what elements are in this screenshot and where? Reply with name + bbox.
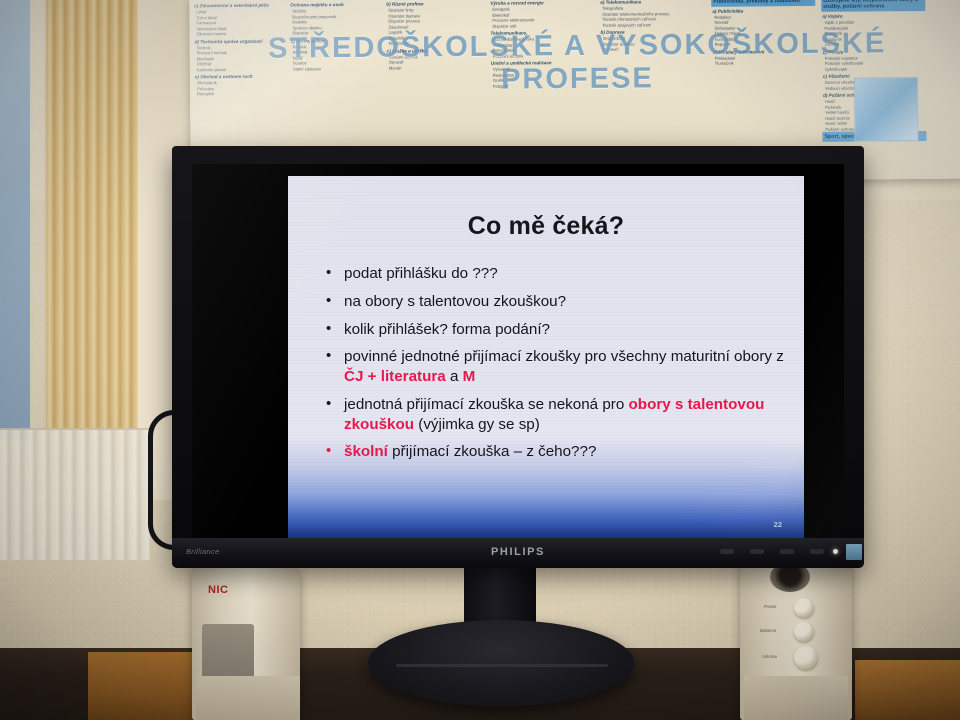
- speaker-left-base: [196, 676, 300, 720]
- monitor-sticker: [846, 544, 862, 560]
- monitor-series-label: Brilliance: [186, 547, 219, 556]
- speaker-right-base: [744, 676, 848, 720]
- bullet-text: (výjimka gy se sp): [414, 416, 540, 433]
- slide-bullet-list: podat přihlášku do ???na obory s talento…: [320, 264, 784, 470]
- monitor-button-menu[interactable]: [720, 549, 734, 554]
- radiator: [0, 428, 150, 560]
- speaker-volume-label: Volume: [762, 654, 777, 659]
- speaker-left: NIC: [192, 568, 300, 720]
- desk-wood-right: [855, 660, 960, 720]
- bullet-text: na obory s talentovou zkouškou?: [344, 293, 566, 310]
- slide-bullet: školní přijímací zkouška – z čeho???: [320, 442, 784, 462]
- monitor-button-up[interactable]: [780, 549, 794, 554]
- bullet-text: jednotná přijímací zkouška se nekoná pro: [344, 396, 629, 413]
- slide-bullet: na obory s talentovou zkouškou?: [320, 292, 784, 312]
- window-blinds: [46, 0, 138, 470]
- speaker-balance-label: Balance: [760, 628, 776, 633]
- monitor-osd-buttons[interactable]: [720, 549, 824, 554]
- bullet-text: povinné jednotné přijímací zkoušky pro v…: [344, 348, 784, 365]
- presentation-slide: Co mě čeká? podat přihlášku do ???na obo…: [288, 176, 804, 538]
- monitor: Co mě čeká? podat přihlášku do ???na obo…: [172, 146, 864, 566]
- desk-wood-left: [88, 652, 208, 720]
- speaker-power-knob[interactable]: [794, 598, 814, 618]
- bullet-text: a: [446, 368, 463, 385]
- slide-bullet: kolik přihlášek? forma podání?: [320, 320, 784, 340]
- photo-scene: c) Zdravotnictví a veterinární péčeLékař…: [0, 0, 960, 720]
- bullet-text: podat přihlášku do ???: [344, 265, 498, 282]
- slide-bullet: povinné jednotné přijímací zkoušky pro v…: [320, 347, 784, 387]
- bullet-highlight: školní: [344, 443, 388, 460]
- monitor-power-led[interactable]: [833, 549, 838, 554]
- slide-bullet: jednotná přijímací zkouška se nekoná pro…: [320, 395, 784, 435]
- monitor-screen: Co mě čeká? podat přihlášku do ???na obo…: [192, 164, 844, 548]
- bullet-text: kolik přihlášek? forma podání?: [344, 321, 550, 338]
- monitor-stand-base: [368, 620, 634, 706]
- speaker-right: Power Balance Volume: [740, 560, 852, 720]
- monitor-button-input[interactable]: [810, 549, 824, 554]
- speaker-left-brand: NIC: [208, 584, 228, 596]
- monitor-bezel-bottom: Brilliance PHILIPS: [172, 538, 864, 568]
- slide-title: Co mě čeká?: [288, 212, 804, 241]
- slide-bullet: podat přihlášku do ???: [320, 264, 784, 284]
- stand-groove: [396, 664, 608, 667]
- slide-number: 22: [774, 520, 782, 529]
- bullet-highlight: M: [463, 368, 476, 385]
- window-light: [0, 0, 30, 440]
- speaker-power-label: Power: [764, 604, 777, 609]
- speaker-balance-knob[interactable]: [794, 622, 814, 642]
- speaker-volume-knob[interactable]: [794, 646, 818, 670]
- bullet-text: přijímací zkouška – z čeho???: [388, 443, 597, 460]
- monitor-brand-logo: PHILIPS: [491, 546, 545, 558]
- monitor-button-down[interactable]: [750, 549, 764, 554]
- bullet-highlight: ČJ + literatura: [344, 368, 446, 385]
